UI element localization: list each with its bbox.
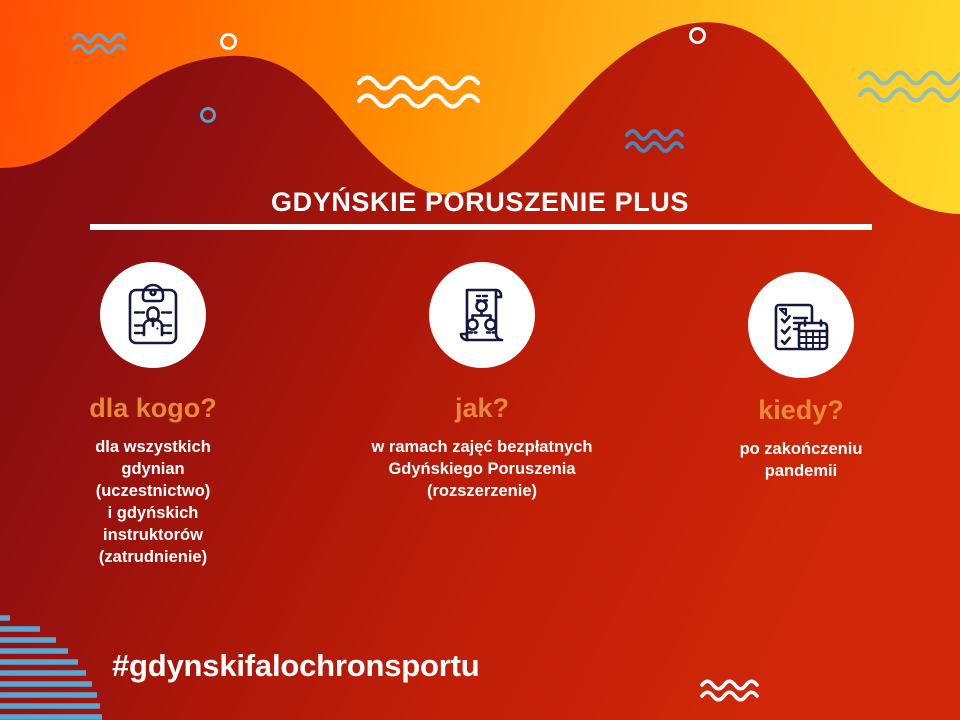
- ring-blue-topleft-icon: [200, 107, 216, 123]
- column-dla-kogo: dla kogo? dla wszystkich gdynian (uczest…: [0, 262, 320, 642]
- column-body-dla-kogo: dla wszystkich gdynian (uczestnictwo) i …: [95, 436, 211, 568]
- checklist-calendar-icon: [748, 272, 854, 378]
- page-title: GDYŃSKIE PORUSZENIE PLUS: [0, 186, 960, 218]
- column-heading-kiedy: kiedy?: [758, 394, 844, 426]
- column-heading-dla-kogo: dla kogo?: [89, 392, 217, 424]
- ring-white-topright-icon: [689, 27, 706, 44]
- column-kiedy: kiedy? po zakończeniu pandemii: [640, 262, 960, 642]
- wave-double-white-topcenter-icon: [356, 68, 492, 112]
- column-body-kiedy: po zakończeniu pandemii: [740, 438, 863, 482]
- hashtag-text: #gdynskifalochronsportu: [112, 648, 479, 684]
- wave-double-white-bottomright-icon: [700, 676, 764, 704]
- ring-white-topleft-icon: [220, 33, 237, 50]
- id-badge-clipboard-icon: [100, 262, 206, 368]
- column-heading-jak: jak?: [455, 392, 509, 424]
- title-block: GDYŃSKIE PORUSZENIE PLUS: [0, 186, 960, 218]
- wave-double-teal-topright-icon: [858, 64, 960, 106]
- poster-canvas: GDYŃSKIE PORUSZENIE PLUS: [0, 0, 960, 720]
- wave-double-blue-midright-icon: [625, 124, 689, 156]
- column-jak: jak? w ramach zajęć bezpłatnych Gdyńskie…: [320, 262, 640, 642]
- title-underline-rule: [90, 224, 872, 230]
- wave-double-blue-topleft-icon: [72, 28, 132, 58]
- column-body-jak: w ramach zajęć bezpłatnych Gdyńskiego Po…: [371, 436, 592, 502]
- scroll-org-chart-icon: [429, 262, 535, 368]
- info-columns: dla kogo? dla wszystkich gdynian (uczest…: [0, 262, 960, 642]
